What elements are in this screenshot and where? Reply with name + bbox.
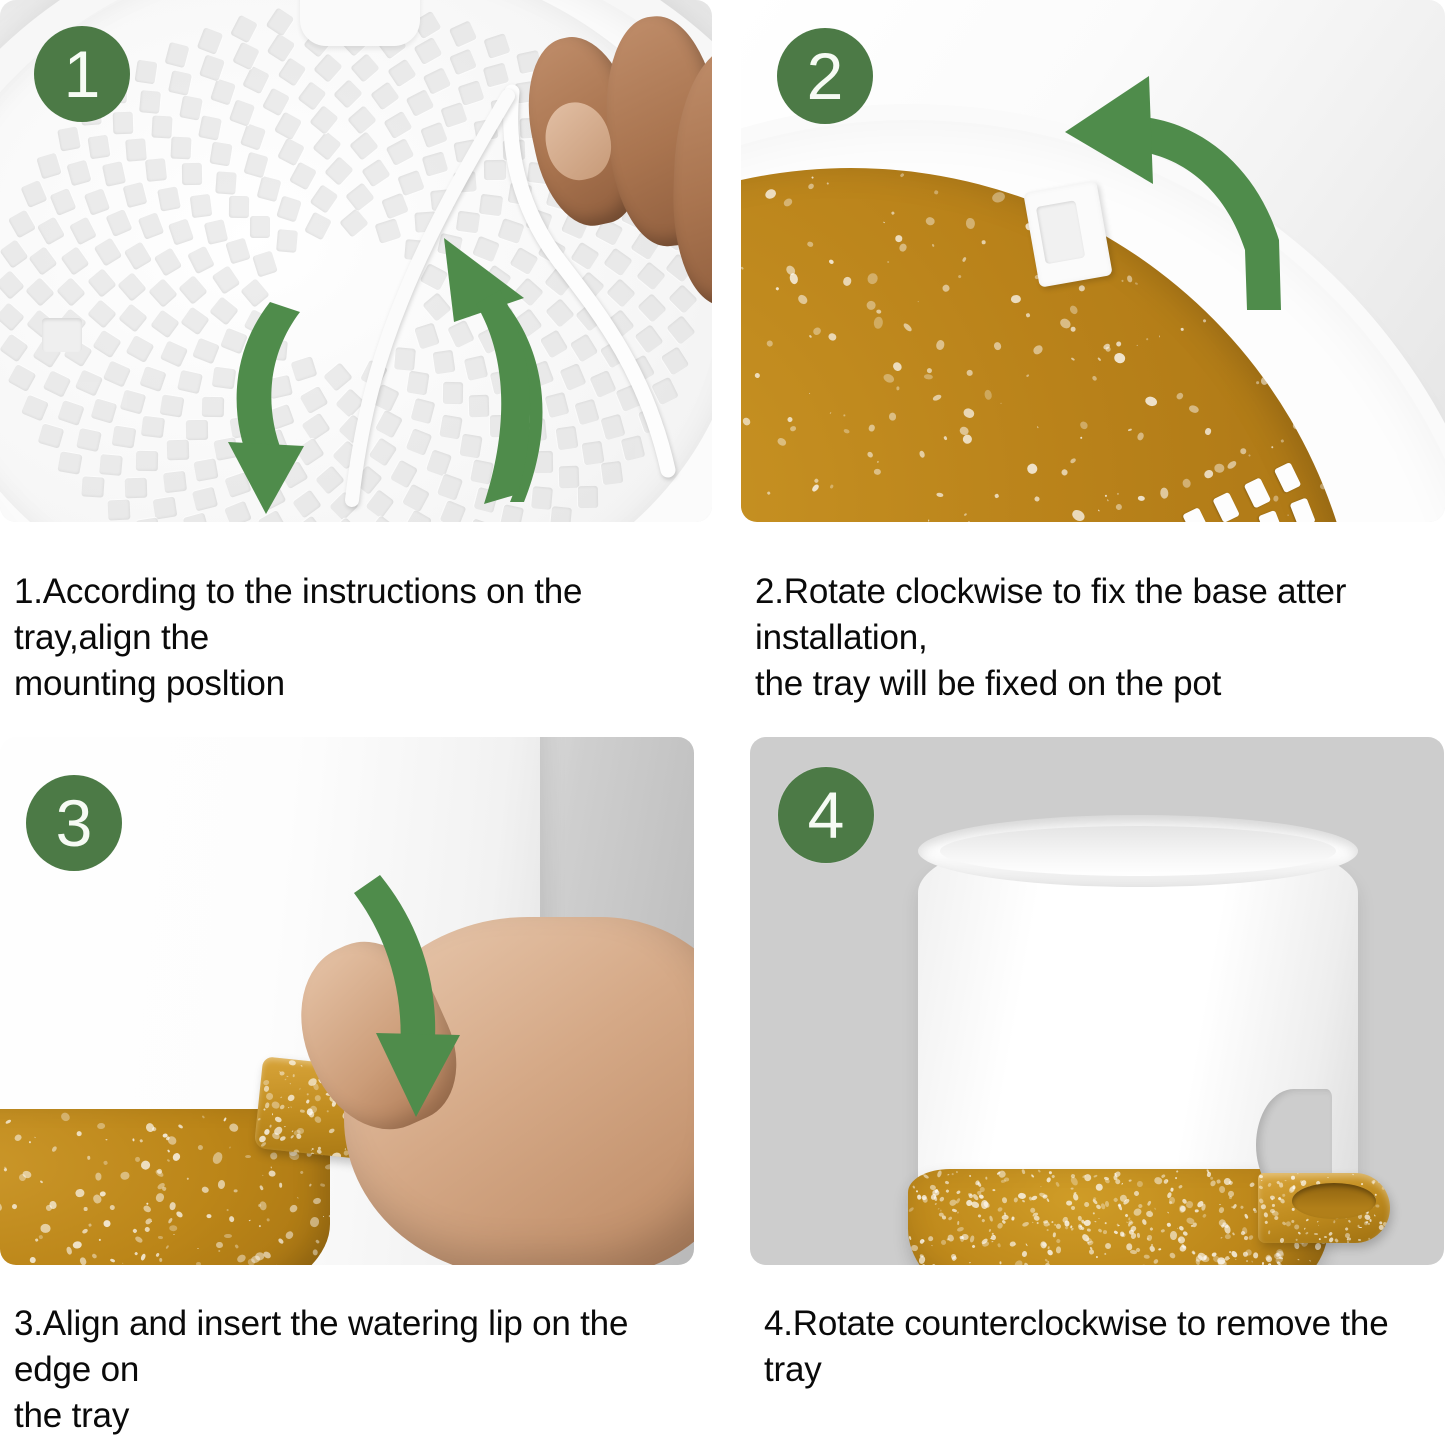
step-3-photo: 3	[0, 737, 694, 1265]
step-1-caption: 1.According to the instructions on the t…	[14, 569, 704, 708]
step-2: 2 2.Rotate clockwise to fix the base att…	[741, 0, 1445, 708]
tray-alignment-tab	[300, 0, 420, 46]
hand	[412, 10, 712, 340]
step-1-photo: 1	[0, 0, 712, 522]
step-3: 3 3.Align and insert the watering lip on…	[0, 737, 694, 1440]
step-2-photo: 2	[741, 0, 1445, 522]
pot-rim	[918, 815, 1358, 887]
step-badge-2: 2	[777, 28, 873, 124]
hand	[284, 887, 694, 1265]
step-badge-4: 4	[778, 767, 874, 863]
step-1: 1 1.According to the instructions on the…	[0, 0, 712, 708]
spout-speckle-texture	[1258, 1173, 1390, 1243]
step-3-caption: 3.Align and insert the watering lip on t…	[14, 1301, 704, 1440]
step-2-caption: 2.Rotate clockwise to fix the base atter…	[755, 569, 1445, 708]
step-4-photo: 4	[750, 737, 1444, 1265]
tray-side-notch	[42, 318, 82, 352]
instruction-sheet: 1 1.According to the instructions on the…	[0, 0, 1445, 1388]
step-4-caption: 4.Rotate counterclockwise to remove the …	[764, 1301, 1445, 1393]
step-badge-3: 3	[26, 775, 122, 871]
watering-spout	[1258, 1173, 1390, 1243]
step-4: 4 4.Rotate counterclockwise to remove th…	[750, 737, 1444, 1393]
step-badge-1: 1	[34, 26, 130, 122]
